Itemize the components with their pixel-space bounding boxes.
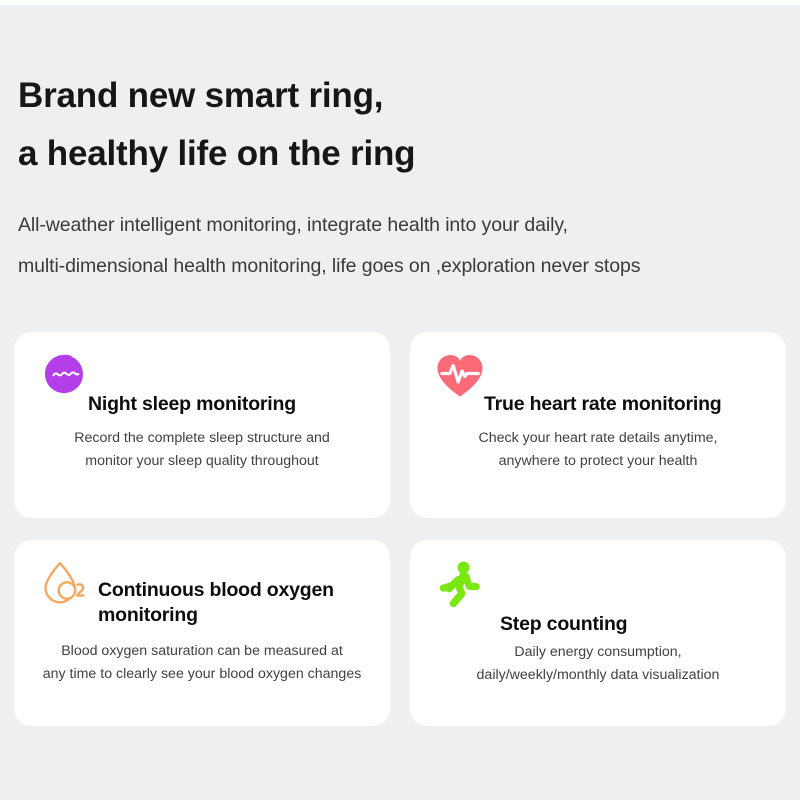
card-description: Check your heart rate details anytime, a… — [410, 427, 786, 473]
page-subtitle: All-weather intelligent monitoring, inte… — [18, 205, 800, 287]
card-header: True heart rate monitoring — [410, 332, 786, 417]
card-description: Record the complete sleep structure and … — [14, 427, 390, 473]
card-title: Continuous blood oxygen monitoring — [98, 556, 390, 628]
feature-card-step-counting[interactable]: Step counting Daily energy consumption, … — [410, 540, 786, 726]
card-description: Blood oxygen saturation can be measured … — [14, 640, 390, 686]
page-root: Brand new smart ring, a healthy life on … — [0, 5, 800, 800]
feature-card-heart-rate[interactable]: True heart rate monitoring Check your he… — [410, 332, 786, 518]
feature-card-grid: Night sleep monitoring Record the comple… — [0, 332, 800, 726]
feature-card-blood-oxygen[interactable]: Continuous blood oxygen monitoring Blood… — [14, 540, 390, 726]
card-header: Continuous blood oxygen monitoring — [14, 540, 390, 628]
blood-oxygen-droplet-icon — [36, 556, 92, 612]
card-title: Step counting — [500, 556, 627, 637]
card-header: Step counting — [410, 540, 786, 637]
card-title: Night sleep monitoring — [88, 348, 296, 417]
card-header: Night sleep monitoring — [14, 332, 390, 417]
card-title: True heart rate monitoring — [484, 348, 722, 417]
running-person-icon — [432, 556, 488, 612]
feature-card-row-2: Continuous blood oxygen monitoring Blood… — [0, 540, 800, 726]
crescent-moon-sleep-icon — [36, 348, 92, 404]
heart-pulse-icon — [432, 348, 488, 404]
feature-card-row-1: Night sleep monitoring Record the comple… — [0, 332, 800, 518]
card-description: Daily energy consumption, daily/weekly/m… — [410, 641, 786, 687]
page-title: Brand new smart ring, a healthy life on … — [18, 67, 800, 183]
feature-card-night-sleep[interactable]: Night sleep monitoring Record the comple… — [14, 332, 390, 518]
hero-section: Brand new smart ring, a healthy life on … — [0, 5, 800, 287]
